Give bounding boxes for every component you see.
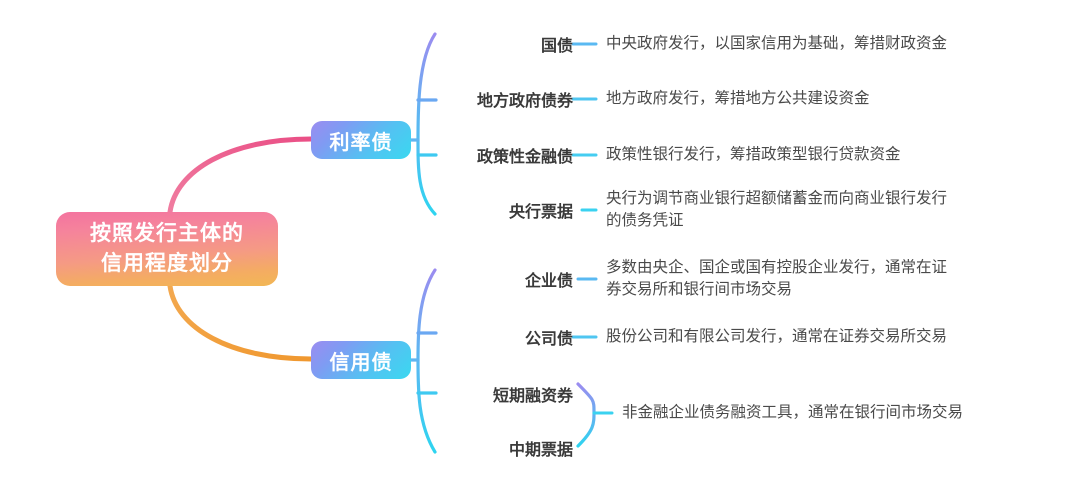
leaf-label-1-1[interactable]: 公司债 — [443, 325, 573, 349]
leaf-description-1-1: 股份公司和有限公司发行，通常在证券交易所交易 — [606, 326, 947, 348]
leaf-label-0-2[interactable]: 政策性金融债 — [443, 143, 573, 167]
bracket-branch-1 — [418, 270, 435, 452]
root-title-line-1: 按照发行主体的 — [90, 219, 244, 249]
leaf-description-0-2: 政策性银行发行，筹措政策型银行贷款资金 — [606, 144, 901, 166]
mindmap-canvas: 按照发行主体的 信用程度划分 利率债 信用债 国债 地方政府债券 政策性金融债 … — [0, 0, 1080, 494]
leaf-description-0-0: 中央政府发行，以国家信用为基础，筹措财政资金 — [606, 33, 947, 55]
leaf-description-1-0: 多数由央企、国企或国有控股企业发行，通常在证 券交易所和银行间市场交易 — [606, 257, 947, 301]
bracket-branch-0 — [418, 34, 435, 214]
leaf-description-1-merged: 非金融企业债务融资工具，通常在银行间市场交易 — [622, 402, 963, 424]
leaf-label-0-3[interactable]: 央行票据 — [443, 198, 573, 222]
root-title-line-2: 信用程度划分 — [101, 249, 233, 279]
leaf-label-1-2[interactable]: 短期融资券 — [443, 382, 573, 406]
branch-node-interest-rate-bond[interactable]: 利率债 — [311, 121, 411, 159]
root-node[interactable]: 按照发行主体的 信用程度划分 — [56, 212, 278, 286]
leaf-label-1-0[interactable]: 企业债 — [443, 267, 573, 291]
leaf-label-1-3[interactable]: 中期票据 — [443, 436, 573, 460]
leaf-label-0-0[interactable]: 国债 — [443, 32, 573, 56]
connector-root-to-branch-0 — [170, 139, 311, 212]
branch-node-credit-bond[interactable]: 信用债 — [311, 341, 411, 379]
bracket-merged-1 — [578, 384, 594, 446]
branch-node-label: 利率债 — [330, 126, 393, 155]
leaf-label-0-1[interactable]: 地方政府债券 — [443, 87, 573, 111]
leaf-description-0-3: 央行为调节商业银行超额储蓄金而向商业银行发行 的债务凭证 — [606, 188, 947, 232]
connector-root-to-branch-1 — [170, 286, 311, 359]
branch-node-label: 信用债 — [330, 346, 393, 375]
leaf-description-0-1: 地方政府发行，筹措地方公共建设资金 — [606, 88, 870, 110]
